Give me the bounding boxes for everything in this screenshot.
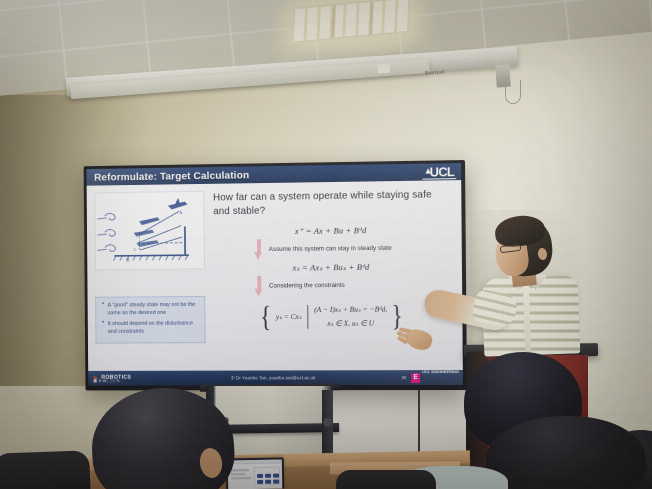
equation-3-line-1: (A − I)xₛ + Buₛ = −Bᵈd,: [314, 304, 387, 313]
svg-text:B: B: [126, 258, 129, 263]
callout-bullet-list: A "good" steady state may not be the sam…: [99, 301, 201, 336]
slide-left-column: A B C A "good" steady state may not be t…: [90, 188, 208, 371]
ucl-logo: ▲ UCL: [430, 165, 457, 178]
ucl-engineering-name: UCL ENGINEERING: [422, 370, 459, 374]
chair-left: [0, 450, 91, 489]
step-2-text: Considering the constraints: [269, 281, 345, 291]
glider-landing-trajectory-diagram: A B C: [94, 191, 205, 271]
laptop-page-card: [254, 467, 280, 485]
audience-laptop-screen: [228, 460, 282, 489]
equation-2: xₛ = Axₛ + Buₛ + Bᵈd: [292, 261, 369, 273]
ucl-engineering-text: UCL ENGINEERING Change the world: [422, 370, 459, 386]
screen-pull-cord[interactable]: [505, 80, 521, 104]
ucl-logo-tick: ▲: [424, 167, 432, 176]
equation-3-line-2: xₛ ∈ X, uₛ ∈ U: [327, 318, 374, 327]
equation-3-right: (A − I)xₛ + Buₛ = −Bᵈd, xₛ ∈ X, uₛ ∈ U: [314, 302, 387, 331]
audience-laptop[interactable]: [226, 457, 285, 489]
step-2: Considering the constraints: [254, 275, 344, 297]
footer-right-group: 28 E UCL ENGINEERING Change the world: [401, 370, 459, 386]
equation-3-divider: [307, 305, 308, 329]
callout-bullet-1: A "good" steady state may not be the sam…: [108, 301, 201, 318]
step-1-text: Assume this system can stay in steady st…: [269, 244, 392, 254]
svg-text:C: C: [134, 247, 137, 252]
arrow-down-icon: [254, 239, 263, 261]
ucl-engineering-mark-icon: E: [411, 373, 420, 383]
chair-right: [336, 470, 436, 489]
svg-text:A: A: [179, 211, 183, 216]
arrow-down-icon-2: [254, 275, 263, 297]
equation-1: x⁺ = Ax + Bu + Bᵈd: [295, 225, 367, 237]
presentation-slide: Reformulate: Target Calculation ▲ UCL: [86, 163, 462, 385]
equation-3-left: yₛ = Cxₛ: [276, 312, 302, 321]
lecture-room-photo: Bastual Reformulate: Target Calculation …: [0, 0, 652, 489]
slide-number: 28: [401, 375, 406, 380]
wall-display[interactable]: Reformulate: Target Calculation ▲ UCL: [84, 160, 467, 390]
figure-svg: A B C: [95, 192, 204, 270]
callout-bullet-2: It should depend on the disturbance and …: [108, 319, 201, 336]
screen-case-mount: [378, 64, 391, 74]
footer-credit: © Dr Yuanbo Tan, yuanbo.tan@ucl.ac.uk: [231, 375, 315, 380]
display-screen: Reformulate: Target Calculation ▲ UCL: [86, 163, 462, 385]
slide-title: Reformulate: Target Calculation: [94, 169, 249, 183]
ucl-engineering-logo: E UCL ENGINEERING Change the world: [411, 370, 459, 386]
step-1: Assume this system can stay in steady st…: [254, 237, 392, 260]
equation-3: { yₛ = Cxₛ (A − I)xₛ + Buₛ = −Bᵈd, xₛ ∈ …: [259, 302, 405, 331]
laptop-browser-bar: [228, 460, 282, 465]
robotics-icon-row: ⚉⚘✉⛶☉✎: [93, 380, 121, 385]
display-stand-knob: [323, 418, 332, 427]
slide-headline: How far can a system operate while stayi…: [213, 188, 452, 219]
callout-box: A "good" steady state may not be the sam…: [95, 296, 205, 343]
